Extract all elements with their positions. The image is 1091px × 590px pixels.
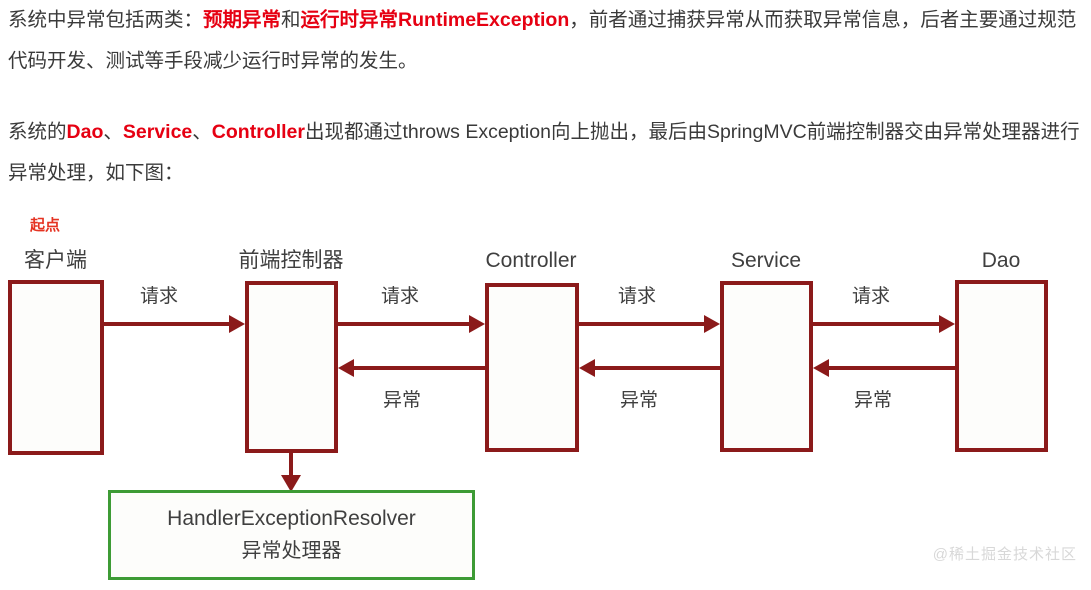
edge-request-front-controller-to-controller xyxy=(338,322,471,326)
arrowhead-left-icon xyxy=(338,359,354,377)
start-point-tag: 起点 xyxy=(30,214,60,235)
edge-exception-dao-to-service xyxy=(827,366,955,370)
arrowhead-right-icon xyxy=(229,315,245,333)
edge-request-client-to-front-controller xyxy=(104,322,231,326)
node-box-controller[interactable] xyxy=(485,283,579,452)
handler-resolver-class-name: HandlerExceptionResolver xyxy=(167,503,416,535)
edge-exception-service-to-controller xyxy=(593,366,720,370)
node-box-handler-exception-resolver[interactable]: HandlerExceptionResolver 异常处理器 xyxy=(108,490,475,580)
site-watermark: @稀土掘金技术社区 xyxy=(933,543,1077,564)
arrowhead-left-icon xyxy=(579,359,595,377)
edge-label-request-4: 请求 xyxy=(852,286,890,308)
edge-label-request-3: 请求 xyxy=(618,286,656,308)
node-label-service: Service xyxy=(696,248,836,274)
node-box-front-controller[interactable] xyxy=(245,281,338,453)
node-label-controller: Controller xyxy=(461,248,601,274)
arrowhead-right-icon xyxy=(704,315,720,333)
edge-request-controller-to-service xyxy=(579,322,706,326)
node-box-dao[interactable] xyxy=(955,280,1048,452)
arrowhead-right-icon xyxy=(469,315,485,333)
arrowhead-right-icon xyxy=(939,315,955,333)
exception-flow-diagram: 起点 客户端 前端控制器 Controller Service Dao 请求 请… xyxy=(0,0,1091,590)
node-label-dao: Dao xyxy=(931,248,1071,274)
node-box-service[interactable] xyxy=(720,281,813,452)
arrowhead-left-icon xyxy=(813,359,829,377)
node-label-client: 客户端 xyxy=(8,248,103,274)
edge-label-exception-1: 异常 xyxy=(383,390,421,412)
edge-front-controller-to-handler xyxy=(289,453,293,477)
handler-resolver-role-label: 异常处理器 xyxy=(242,535,342,567)
edge-label-exception-3: 异常 xyxy=(854,390,892,412)
edge-label-request-1: 请求 xyxy=(140,286,178,308)
edge-request-service-to-dao xyxy=(813,322,941,326)
edge-label-exception-2: 异常 xyxy=(620,390,658,412)
node-label-front-controller: 前端控制器 xyxy=(221,248,361,274)
edge-label-request-2: 请求 xyxy=(381,286,419,308)
edge-exception-controller-to-front-controller xyxy=(352,366,485,370)
node-box-client[interactable] xyxy=(8,280,104,455)
